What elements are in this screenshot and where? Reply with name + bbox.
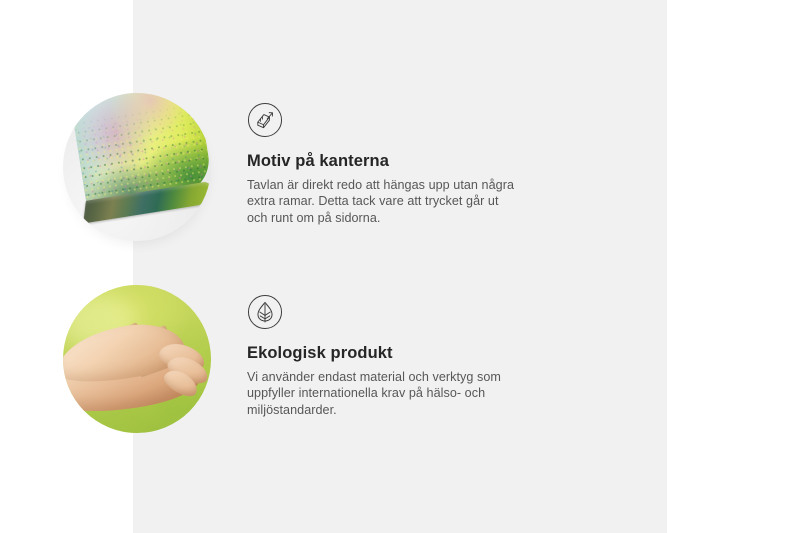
background-panel — [133, 0, 667, 533]
feature-row-eco: Ekologisk produkt Vi använder endast mat… — [63, 285, 519, 435]
canvas-block — [69, 93, 211, 232]
photo-circle-mask — [63, 285, 211, 433]
feature-text-eco: Ekologisk produkt Vi använder endast mat… — [247, 285, 519, 418]
feature-title: Motiv på kanterna — [247, 152, 519, 172]
photo-circle-mask — [63, 93, 211, 241]
canvas-corner-photo — [63, 93, 213, 243]
canvas-wrapped-edges-icon — [247, 102, 283, 138]
feature-title: Ekologisk produkt — [247, 344, 519, 364]
feature-text-edges: Motiv på kanterna Tavlan är direkt redo … — [247, 93, 519, 226]
leaf-icon — [247, 294, 283, 330]
hands-holding-wood-chips-photo — [63, 285, 213, 435]
feature-row-edges: Motiv på kanterna Tavlan är direkt redo … — [63, 93, 519, 243]
product-feature-graphic: Motiv på kanterna Tavlan är direkt redo … — [0, 0, 800, 533]
feature-body: Tavlan är direkt redo att hängas upp uta… — [247, 177, 519, 226]
feature-body: Vi använder endast material och verktyg … — [247, 369, 519, 418]
